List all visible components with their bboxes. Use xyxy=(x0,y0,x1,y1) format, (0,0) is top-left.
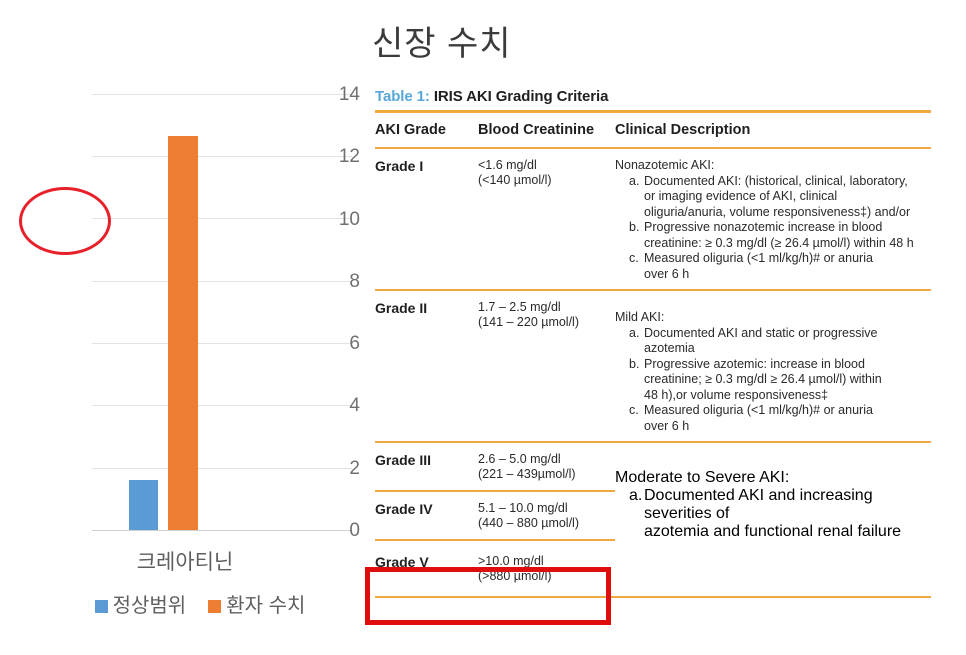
item-marker: b. xyxy=(629,357,639,373)
item-line: oliguria/anuria, volume responsiveness‡)… xyxy=(644,205,910,219)
description-heading: Mild AKI: xyxy=(615,310,931,326)
item-line: over 6 h xyxy=(644,267,689,281)
bar-normal-range[interactable] xyxy=(129,480,158,530)
legend-label-normal-range: 정상범위 xyxy=(113,596,187,616)
description-item: a. Documented AKI and increasing severit… xyxy=(629,487,931,541)
cell-grade: Grade V xyxy=(375,554,478,584)
column-header-clinical-description: Clinical Description xyxy=(615,122,931,138)
table-rule-bottom xyxy=(375,596,931,598)
bar-patient-value[interactable] xyxy=(168,136,198,530)
slide-canvas: 14 12 10 8 6 4 2 0 크레아티닌 정상범위 환자 수치 xyxy=(0,0,966,655)
description-item: c. Measured oliguria (<1 ml/kg/h)# or an… xyxy=(629,251,931,282)
cell-description: Moderate to Severe AKI: a. Documented AK… xyxy=(615,443,931,596)
creatinine-line: >10.0 mg/dl xyxy=(478,554,615,569)
item-line: Measured oliguria (<1 ml/kg/h)# or anuri… xyxy=(644,403,873,417)
plot-area xyxy=(92,94,352,530)
cell-creatinine: <1.6 mg/dl (<140 µmol/l) xyxy=(478,158,615,282)
x-axis-category-label: 크레아티닌 xyxy=(60,546,310,576)
item-marker: a. xyxy=(629,326,639,342)
table-row: Grade III 2.6 – 5.0 mg/dl (221 – 439µmol… xyxy=(375,443,615,490)
item-line: Progressive nonazotemic increase in bloo… xyxy=(644,220,882,234)
item-line: Measured oliguria (<1 ml/kg/h)# or anuri… xyxy=(644,251,873,265)
table-caption-text: IRIS AKI Grading Criteria xyxy=(434,88,608,105)
table-caption: Table 1: IRIS AKI Grading Criteria xyxy=(375,88,931,110)
cell-description: Mild AKI: a. Documented AKI and static o… xyxy=(615,300,931,434)
group-grade-column: Grade III 2.6 – 5.0 mg/dl (221 – 439µmol… xyxy=(375,443,615,596)
cell-grade: Grade III xyxy=(375,452,478,482)
item-line: creatinine; ≥ 0.3 mg/dl ≥ 26.4 µmol/l) w… xyxy=(644,372,882,386)
item-line: azotemia and functional renal failure xyxy=(644,523,901,540)
creatinine-line: 2.6 – 5.0 mg/dl xyxy=(478,452,615,467)
description-list: a. Documented AKI and increasing severit… xyxy=(615,487,931,541)
item-line: Documented AKI and increasing severities… xyxy=(644,487,873,522)
table-row-grade-v: Grade V >10.0 mg/dl (>880 µmol/l) xyxy=(375,541,615,596)
item-marker: a. xyxy=(629,174,639,190)
legend-label-patient-value: 환자 수치 xyxy=(226,596,305,616)
item-line: or imaging evidence of AKI, clinical xyxy=(644,189,837,203)
description-heading: Nonazotemic AKI: xyxy=(615,158,931,174)
description-item: b. Progressive azotemic: increase in blo… xyxy=(629,357,931,404)
iris-aki-grading-table: Table 1: IRIS AKI Grading Criteria AKI G… xyxy=(375,88,931,598)
legend-item-patient-value[interactable]: 환자 수치 xyxy=(208,596,305,616)
item-line: 48 h),or volume responsiveness‡ xyxy=(644,388,828,402)
table-header-row: AKI Grade Blood Creatinine Clinical Desc… xyxy=(375,113,931,147)
item-marker: c. xyxy=(629,403,639,419)
legend-swatch-icon-normal-range xyxy=(95,600,108,613)
item-marker: a. xyxy=(629,487,642,505)
creatinine-bar-chart: 14 12 10 8 6 4 2 0 크레아티닌 정상범위 환자 수치 xyxy=(0,0,360,655)
description-item: c. Measured oliguria (<1 ml/kg/h)# or an… xyxy=(629,403,931,434)
table-row: Grade I <1.6 mg/dl (<140 µmol/l) Nonazot… xyxy=(375,149,931,289)
legend-item-normal-range[interactable]: 정상범위 xyxy=(95,596,187,616)
creatinine-line: (141 – 220 µmol/l) xyxy=(478,315,615,330)
description-list: a. Documented AKI and static or progress… xyxy=(615,326,931,435)
creatinine-line: (440 – 880 µmol/l) xyxy=(478,516,615,531)
description-list: a. Documented AKI: (historical, clinical… xyxy=(615,174,931,283)
red-circle-annotation-icon xyxy=(19,187,111,255)
creatinine-line: 5.1 – 10.0 mg/dl xyxy=(478,501,615,516)
column-header-aki-grade: AKI Grade xyxy=(375,122,478,138)
description-item: a. Documented AKI: (historical, clinical… xyxy=(629,174,931,221)
cell-grade: Grade II xyxy=(375,300,478,434)
cell-creatinine: 1.7 – 2.5 mg/dl (141 – 220 µmol/l) xyxy=(478,300,615,434)
legend-swatch-icon-patient-value xyxy=(208,600,221,613)
chart-legend: 정상범위 환자 수치 xyxy=(60,596,340,616)
item-line: Documented AKI and static or progressive xyxy=(644,326,877,340)
creatinine-line: <1.6 mg/dl xyxy=(478,158,615,173)
table-row-group-severe: Grade III 2.6 – 5.0 mg/dl (221 – 439µmol… xyxy=(375,443,931,596)
creatinine-line: 1.7 – 2.5 mg/dl xyxy=(478,300,615,315)
description-item: a. Documented AKI and static or progress… xyxy=(629,326,931,357)
cell-grade: Grade IV xyxy=(375,501,478,531)
cell-creatinine: 2.6 – 5.0 mg/dl (221 – 439µmol/l) xyxy=(478,452,615,482)
item-line: Progressive azotemic: increase in blood xyxy=(644,357,865,371)
item-marker: b. xyxy=(629,220,639,236)
item-line: azotemia xyxy=(644,341,695,355)
table-row: Grade IV 5.1 – 10.0 mg/dl (440 – 880 µmo… xyxy=(375,492,615,539)
description-heading: Moderate to Severe AKI: xyxy=(615,469,931,487)
item-line: creatinine: ≥ 0.3 mg/dl (≥ 26.4 µmol/l) … xyxy=(644,236,914,250)
cell-grade: Grade I xyxy=(375,158,478,282)
item-marker: c. xyxy=(629,251,639,267)
cell-description: Nonazotemic AKI: a. Documented AKI: (his… xyxy=(615,158,931,282)
column-header-blood-creatinine: Blood Creatinine xyxy=(478,122,615,138)
cell-creatinine: >10.0 mg/dl (>880 µmol/l) xyxy=(478,554,615,584)
cell-creatinine: 5.1 – 10.0 mg/dl (440 – 880 µmol/l) xyxy=(478,501,615,531)
creatinine-line: (>880 µmol/l) xyxy=(478,569,615,584)
creatinine-line: (<140 µmol/l) xyxy=(478,173,615,188)
item-line: Documented AKI: (historical, clinical, l… xyxy=(644,174,908,188)
creatinine-line: (221 – 439µmol/l) xyxy=(478,467,615,482)
item-line: over 6 h xyxy=(644,419,689,433)
page-title: 신장 수치 xyxy=(372,16,512,65)
table-caption-label: Table 1: xyxy=(375,88,430,105)
description-item: b. Progressive nonazotemic increase in b… xyxy=(629,220,931,251)
table-row: Grade II 1.7 – 2.5 mg/dl (141 – 220 µmol… xyxy=(375,291,931,441)
